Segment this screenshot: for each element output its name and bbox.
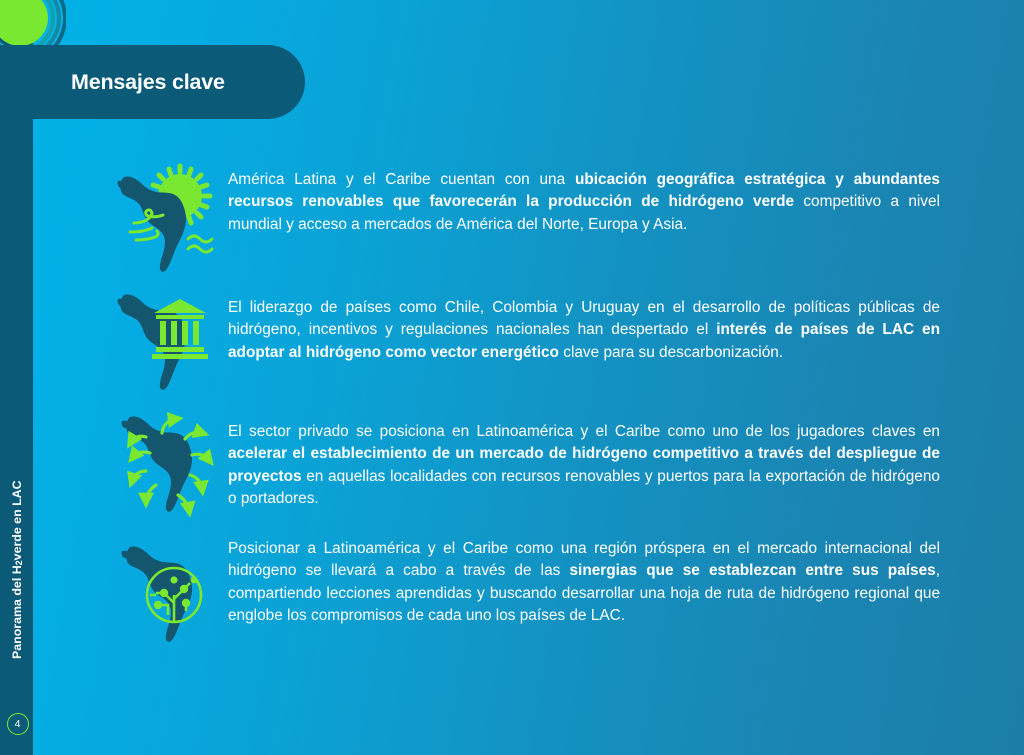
page-number: 4 [15, 718, 21, 730]
vertical-label-prefix: Panorama del H [10, 565, 24, 659]
key-message-text: El sector privado se posiciona en Latino… [228, 409, 940, 510]
text-segment: América Latina y el Caribe cuentan con u… [228, 171, 575, 188]
key-message-text: América Latina y el Caribe cuentan con u… [228, 163, 940, 236]
key-messages-list: América Latina y el Caribe cuentan con u… [110, 163, 940, 655]
page-number-badge: 4 [7, 713, 29, 735]
text-segment: El sector privado se posiciona en Latino… [228, 423, 940, 440]
vertical-label-subscript: 2 [14, 560, 24, 565]
page-title: Mensajes clave [0, 70, 225, 95]
key-message-text: Posicionar a Latinoamérica y el Caribe c… [228, 533, 940, 627]
text-segment: en aquellas localidades con recursos ren… [228, 468, 940, 507]
vertical-label-suffix: verde en LAC [10, 480, 24, 560]
text-segment-bold: sinergias que se establezcan entre sus p… [570, 562, 936, 579]
key-message-item: Posicionar a Latinoamérica y el Caribe c… [110, 533, 940, 645]
title-pill: Mensajes clave [0, 45, 305, 119]
key-message-item: El sector privado se posiciona en Latino… [110, 409, 940, 521]
slide-canvas: Mensajes clave Panorama del H2 verde en … [0, 0, 1024, 755]
key-message-item: América Latina y el Caribe cuentan con u… [110, 163, 940, 275]
map-government-building-icon [110, 285, 228, 397]
vertical-running-label: Panorama del H2 verde en LAC [0, 454, 33, 659]
text-segment: clave para su descarbonización. [559, 344, 783, 361]
key-message-item: El liderazgo de países como Chile, Colom… [110, 285, 940, 397]
map-sun-wind-water-icon [110, 163, 228, 275]
key-message-text: El liderazgo de países como Chile, Colom… [228, 285, 940, 364]
map-outward-arrows-icon [110, 409, 228, 521]
map-network-nodes-icon [110, 533, 228, 645]
